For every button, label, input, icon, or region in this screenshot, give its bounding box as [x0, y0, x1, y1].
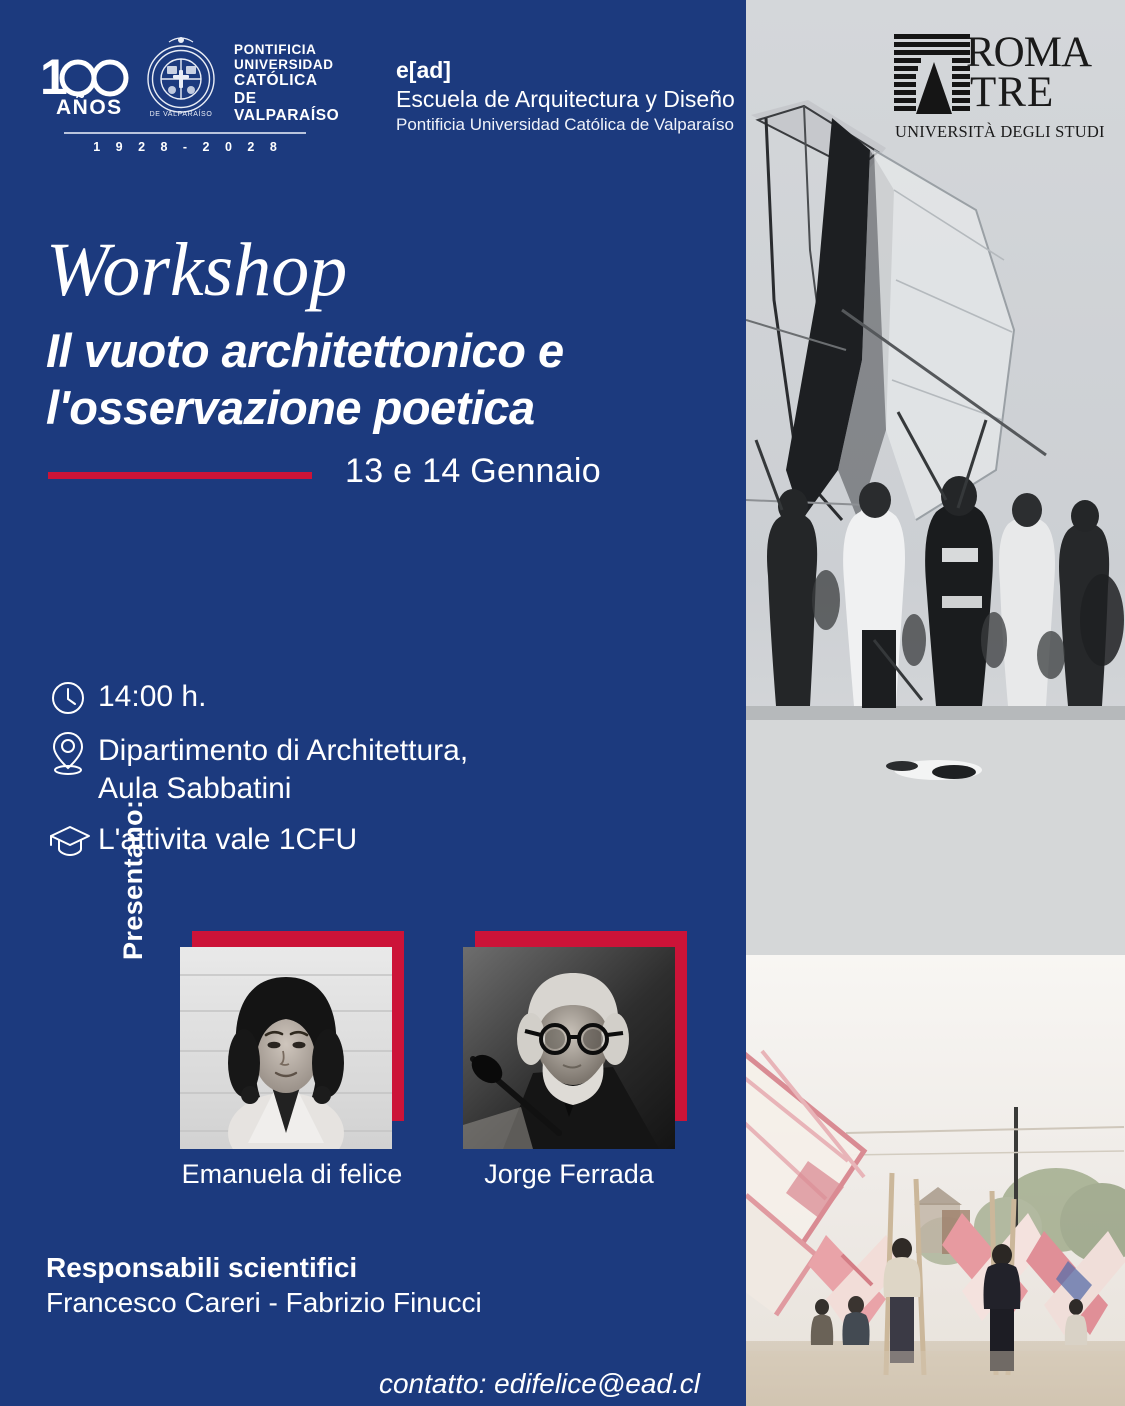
photo-column: ROMA TRE UNIVERSITÀ DEGLI STUDI — [746, 0, 1125, 1406]
scientific-directors-names: Francesco Careri - Fabrizio Finucci — [46, 1285, 482, 1321]
detail-row-time: 14:00 h. — [48, 676, 668, 720]
contact-email[interactable]: contatto: edifelice@ead.cl — [0, 1368, 700, 1400]
presenter-name: Emanuela di felice — [176, 1159, 408, 1190]
roma-tre-line-1: ROMA — [966, 32, 1091, 73]
pucv-years-range: 1 9 2 8 - 2 0 2 8 — [72, 140, 304, 154]
page-title-kicker: Workshop — [46, 232, 347, 308]
page-title: Il vuoto architettonico e l'osservazione… — [46, 322, 564, 437]
detail-time: 14:00 h. — [98, 676, 206, 716]
presenter-portrait — [463, 947, 675, 1149]
pucv-line-2: UNIVERSIDAD — [234, 57, 339, 72]
presenter-portrait — [180, 947, 392, 1149]
roma-tre-subtitle: UNIVERSITÀ DEGLI STUDI — [895, 122, 1105, 142]
scientific-directors-block: Responsabili scientifici Francesco Carer… — [46, 1250, 482, 1321]
svg-text:DE VALPARAÍSO: DE VALPARAÍSO — [150, 109, 213, 118]
pucv-line-1: PONTIFICIA — [234, 42, 339, 57]
presenters-label: Presentano: — [118, 770, 154, 960]
roma-tre-line-2: TRE — [970, 72, 1054, 113]
anniversary-100-glyph: 1 AÑOS — [40, 52, 132, 126]
poster: 1 AÑOS — [0, 0, 1125, 1406]
anniversary-mark: 1 AÑOS — [40, 52, 132, 126]
event-date: 13 e 14 Gennaio — [345, 452, 601, 491]
pucv-divider — [64, 132, 306, 134]
graduation-cap-icon — [48, 819, 98, 863]
ead-university-name: Pontificia Universidad Católica de Valpa… — [396, 114, 735, 137]
photo-kite-structures-field — [746, 955, 1125, 1406]
svg-text:AÑOS: AÑOS — [56, 96, 123, 119]
roma-tre-logo: ROMA TRE UNIVERSITÀ DEGLI STUDI — [894, 28, 1109, 146]
pucv-line-4: VALPARAÍSO — [234, 107, 339, 124]
date-accent-rule — [48, 472, 312, 479]
clock-icon — [48, 676, 98, 720]
scientific-directors-title: Responsabili scientifici — [46, 1250, 482, 1285]
left-content-panel: 1 AÑOS — [0, 0, 746, 1406]
ead-logo-block: e[ad] Escuela de Arquitectura y Diseño P… — [396, 56, 735, 136]
photo-sail-kite-crowd: ROMA TRE UNIVERSITÀ DEGLI STUDI — [746, 0, 1125, 955]
ead-school-name: Escuela de Arquitectura y Diseño — [396, 85, 735, 114]
pucv-seal-icon: DE VALPARAÍSO — [136, 32, 226, 122]
roma-tre-arch-icon — [894, 34, 970, 120]
pucv-line-3: CATÓLICA DE — [234, 72, 339, 107]
pucv-logo: 1 AÑOS — [36, 30, 308, 160]
page-title-line-1: Il vuoto architettonico e — [46, 322, 564, 379]
page-title-line-2: l'osservazione poetica — [46, 379, 564, 436]
presenter-name: Jorge Ferrada — [453, 1159, 685, 1190]
ead-mark: e[ad] — [396, 56, 735, 85]
location-pin-icon — [48, 730, 98, 774]
pucv-wordmark: PONTIFICIA UNIVERSIDAD CATÓLICA DE VALPA… — [234, 42, 339, 124]
